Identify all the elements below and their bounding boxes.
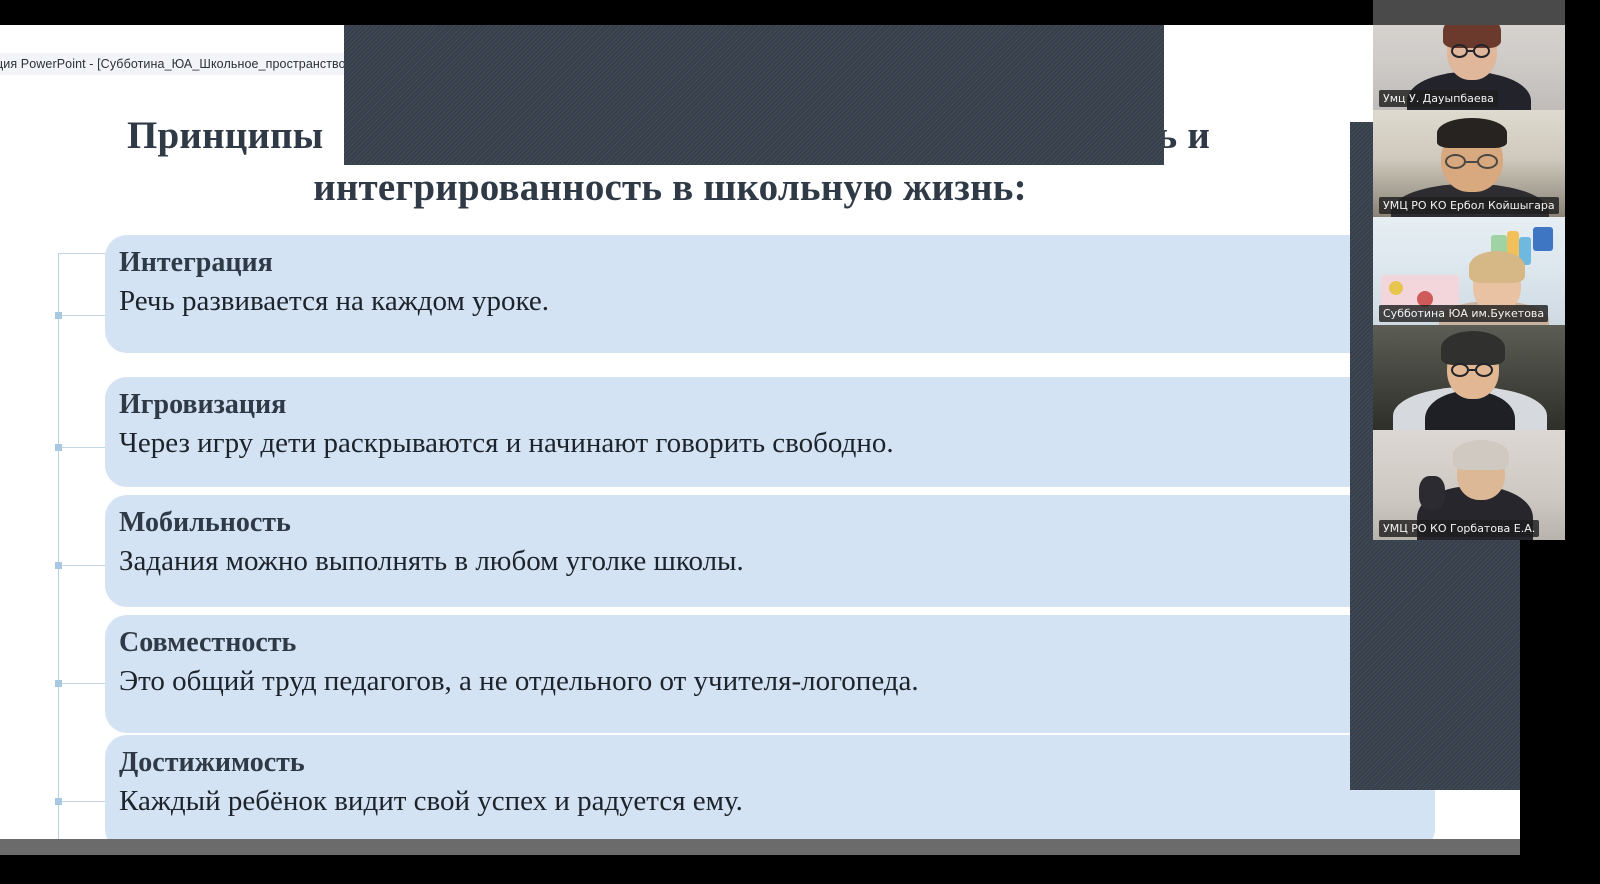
principle-card-body: Это общий труд педагогов, а не отдельног…	[119, 661, 1435, 701]
video-tile[interactable]: УМЦ РО КО Ербол Койшыгара	[1373, 110, 1565, 217]
principle-card[interactable]: Мобильность Задания можно выполнять в лю…	[105, 495, 1435, 607]
tree-trunk	[58, 253, 59, 851]
principle-card-title: Совместность	[119, 625, 1435, 661]
principle-card-body: Через игру дети раскрываются и начинают …	[119, 423, 1435, 463]
right-edge-black	[1565, 0, 1600, 884]
tree-branch	[58, 447, 110, 448]
principle-card-title: Мобильность	[119, 505, 1435, 541]
slide-title-line-2: интегрированность в школьную жизнь:	[0, 162, 1520, 214]
tree-node-icon	[55, 312, 62, 319]
principle-card-body: Речь развивается на каждом уроке.	[119, 281, 1435, 321]
principle-card-body: Каждый ребёнок видит свой успех и радует…	[119, 781, 1435, 821]
principle-card-title: Интеграция	[119, 245, 1435, 281]
video-feed	[1373, 325, 1565, 430]
video-participant-strip[interactable]: Умц У. Дауыпбаева УМЦ РО КО Ербол Койшыг…	[1373, 0, 1565, 540]
video-tile[interactable]	[1373, 325, 1565, 430]
video-tile[interactable]: Субботина ЮА им.Букетова	[1373, 217, 1565, 325]
overlay-window-top[interactable]	[344, 25, 1164, 165]
taskbar-strip[interactable]	[0, 839, 1520, 855]
principle-card[interactable]: Интеграция Речь развивается на каждом ур…	[105, 235, 1435, 353]
tree-branch	[58, 315, 110, 316]
top-black-band	[0, 0, 1600, 25]
tree-node-icon	[55, 798, 62, 805]
participant-name-label: Субботина ЮА им.Букетова	[1379, 305, 1548, 322]
participant-name-label: УМЦ РО КО Горбатова Е.А.	[1379, 520, 1539, 537]
principle-card-body: Задания можно выполнять в любом уголке ш…	[119, 541, 1435, 581]
tree-node-icon	[55, 680, 62, 687]
tree-branch	[58, 565, 110, 566]
tree-node-icon	[55, 444, 62, 451]
video-tile[interactable]: УМЦ РО КО Горбатова Е.А.	[1373, 430, 1565, 540]
principle-card-title: Игровизация	[119, 387, 1435, 423]
tree-branch	[58, 801, 110, 802]
slide-title-head: Принципы	[127, 114, 323, 157]
principle-card-title: Достижимость	[119, 745, 1435, 781]
tree-branch	[58, 683, 110, 684]
principle-card[interactable]: Достижимость Каждый ребёнок видит свой у…	[105, 735, 1435, 851]
participant-name-label: УМЦ РО КО Ербол Койшыгара	[1379, 197, 1559, 214]
principle-card[interactable]: Игровизация Через игру дети раскрываются…	[105, 377, 1435, 487]
screen: ция PowerPoint - [Субботина_ЮА_Школьное_…	[0, 0, 1600, 884]
powerpoint-window-caption: ция PowerPoint - [Субботина_ЮА_Школьное_…	[0, 53, 346, 75]
participant-name-label: Умц У. Дауыпбаева	[1379, 90, 1498, 107]
principle-card[interactable]: Совместность Это общий труд педагогов, а…	[105, 615, 1435, 733]
tree-node-icon	[55, 562, 62, 569]
